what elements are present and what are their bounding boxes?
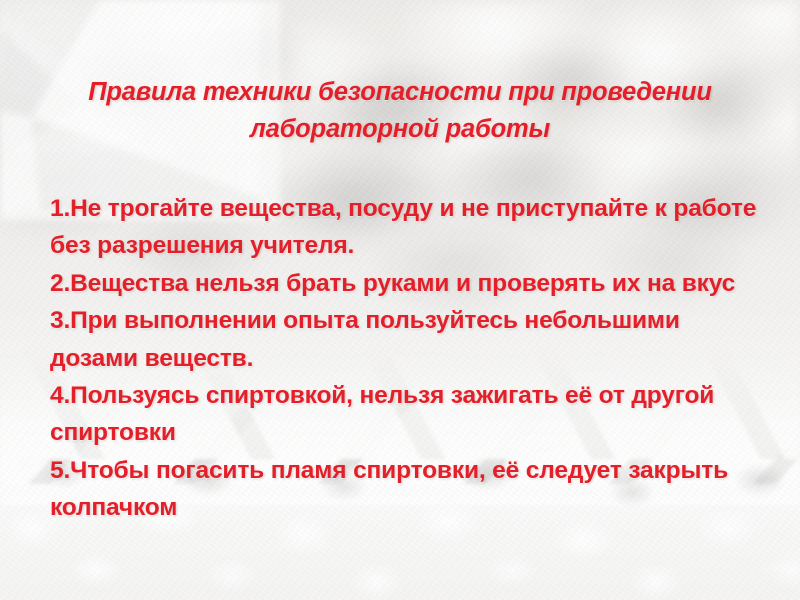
safety-rules-list: 1.Не трогайте вещества, посуду и не прис… (50, 190, 762, 527)
rule-item-1: 1.Не трогайте вещества, посуду и не прис… (50, 190, 762, 265)
rule-item-2: 2.Вещества нельзя брать руками и проверя… (50, 265, 762, 302)
rule-item-5: 5.Чтобы погасить пламя спиртовки, её сле… (50, 452, 762, 527)
presentation-slide: Правила техники безопасности при проведе… (0, 0, 800, 600)
rule-item-4: 4.Пользуясь спиртовкой, нельзя зажигать … (50, 377, 762, 452)
rule-item-3: 3.При выполнении опыта пользуйтесь небол… (50, 302, 762, 377)
slide-content: Правила техники безопасности при проведе… (0, 0, 800, 600)
slide-title: Правила техники безопасности при проведе… (50, 74, 750, 148)
